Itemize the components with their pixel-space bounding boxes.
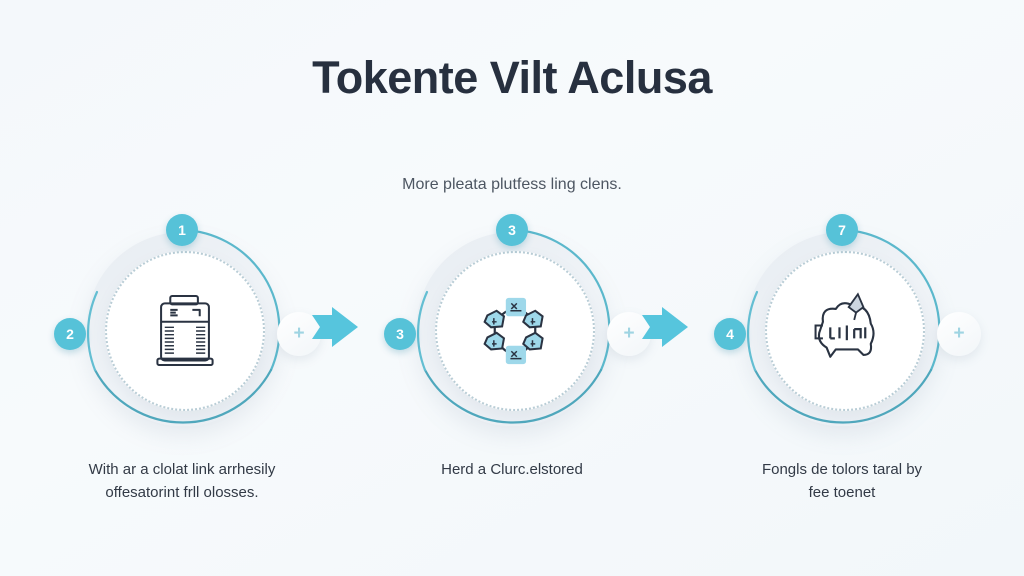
step-item-1[interactable]: 1 2 + [67,218,297,450]
document-container-icon [139,285,231,377]
caption-line-2: offesatorint frll olosses. [32,481,332,504]
step-icon-circle [435,251,595,411]
step-caption-2: Herd a Clurc.elstored [362,458,662,481]
captions-row: With ar a clolat link arrhesily offesato… [0,458,1024,548]
plus-icon[interactable]: + [937,312,981,356]
step-badge-left[interactable]: 2 [54,318,86,350]
steps-row: 1 2 + [0,218,1024,458]
step-badge-top[interactable]: 3 [496,214,528,246]
network-nodes-icon [469,285,561,377]
arrow-right-icon [638,305,692,349]
step-item-3[interactable]: 7 4 + [727,218,957,450]
caption-line-1: Herd a Clurc.elstored [441,461,583,478]
infographic-canvas: Tokente Vilt Aclusa More pleata plutfess… [0,0,1024,576]
step-icon-circle [765,251,925,411]
step-item-2[interactable]: 3 3 + [397,218,627,450]
page-subtitle: More pleata plutfess ling clens. [0,176,1024,194]
piggy-bank-cloud-icon [799,285,891,377]
page-title: Tokente Vilt Aclusa [0,52,1024,104]
step-badge-left[interactable]: 3 [384,318,416,350]
step-caption-3: Fongls de tolors taral by fee toenet [692,458,992,505]
step-badge-top[interactable]: 7 [826,214,858,246]
step-badge-top[interactable]: 1 [166,214,198,246]
caption-line-1: Fongls de tolors taral by [762,461,922,478]
step-icon-circle [105,251,265,411]
step-badge-left[interactable]: 4 [714,318,746,350]
arrow-right-icon [308,305,362,349]
step-caption-1: With ar a clolat link arrhesily offesato… [32,458,332,505]
caption-line-1: With ar a clolat link arrhesily [89,461,276,478]
caption-line-2: fee toenet [692,481,992,504]
